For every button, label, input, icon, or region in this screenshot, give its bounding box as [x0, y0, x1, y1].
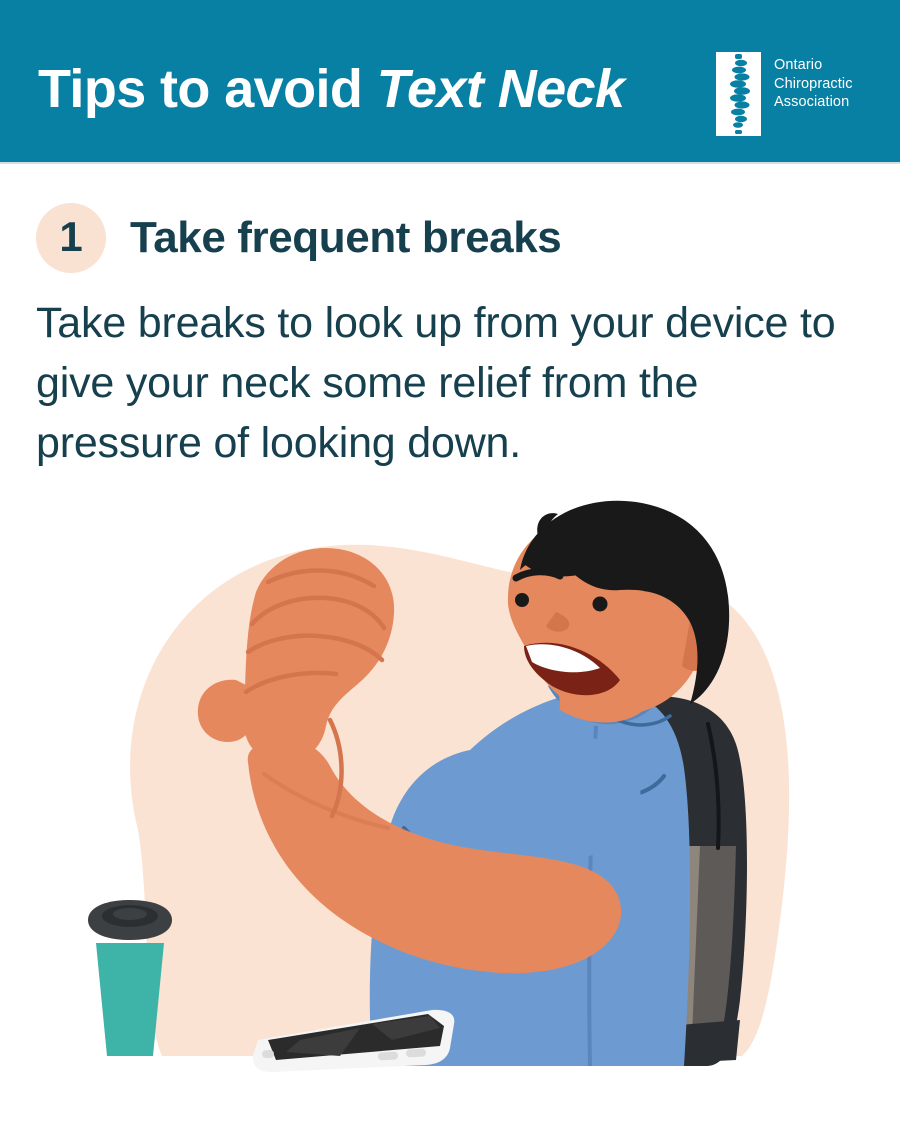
- logo-line-chiropractic: Chiropractic: [774, 75, 853, 94]
- illustration-stretching-man: [0, 500, 900, 1100]
- tip-heading: Take frequent breaks: [130, 216, 561, 260]
- oca-logo-text: Ontario Chiropractic Association: [774, 52, 853, 112]
- page-title-emphasis: Text Neck: [377, 59, 625, 119]
- page-title-main: Tips to avoid: [38, 59, 377, 119]
- header-divider: [0, 162, 900, 164]
- tip-body-text: Take breaks to look up from your device …: [36, 293, 836, 473]
- page-title: Tips to avoid Text Neck: [38, 62, 624, 116]
- tip-number-badge: 1: [36, 203, 106, 273]
- logo-line-association: Association: [774, 93, 853, 112]
- oca-logo: Ontario Chiropractic Association: [716, 52, 876, 136]
- spine-vertebrae-icon: [716, 52, 761, 136]
- tip-number: 1: [59, 216, 82, 258]
- header-banner: Tips to avoid Text Neck: [0, 0, 900, 162]
- logo-line-ontario: Ontario: [774, 56, 853, 75]
- infographic-page: Tips to avoid Text Neck: [0, 0, 900, 1125]
- tip-heading-row: 1 Take frequent breaks: [36, 203, 561, 273]
